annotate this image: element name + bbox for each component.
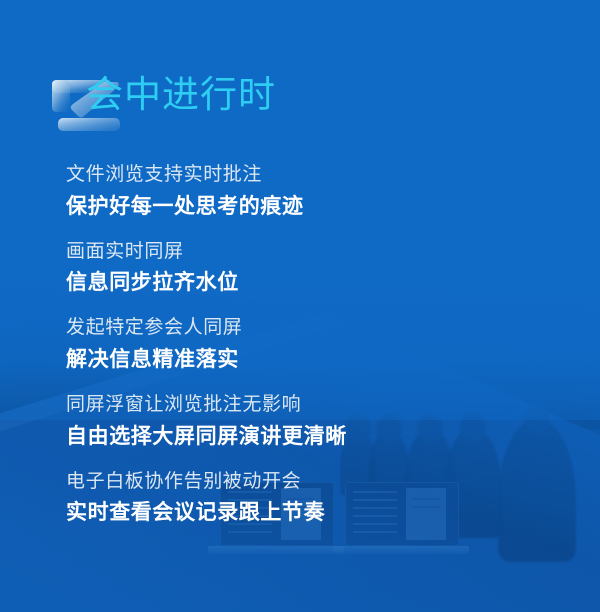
section-title: 会中进行时 xyxy=(86,76,276,113)
feature-lead: 发起特定参会人同屏 xyxy=(66,313,576,344)
feature-lead: 同屏浮窗让浏览批注无影响 xyxy=(66,390,576,421)
feature-list: 文件浏览支持实时批注 保护好每一处思考的痕迹 画面实时同屏 信息同步拉齐水位 发… xyxy=(66,160,576,529)
feature-headline: 实时查看会议记录跟上节奏 xyxy=(66,497,576,529)
feature-lead: 电子白板协作告别被动开会 xyxy=(66,467,576,498)
feature-lead: 画面实时同屏 xyxy=(66,237,576,268)
feature-item: 画面实时同屏 信息同步拉齐水位 xyxy=(66,237,576,300)
feature-headline: 信息同步拉齐水位 xyxy=(66,267,576,299)
feature-headline: 保护好每一处思考的痕迹 xyxy=(66,191,576,223)
feature-item: 发起特定参会人同屏 解决信息精准落实 xyxy=(66,313,576,376)
feature-item: 同屏浮窗让浏览批注无影响 自由选择大屏同屏演讲更清晰 xyxy=(66,390,576,453)
feature-item: 电子白板协作告别被动开会 实时查看会议记录跟上节奏 xyxy=(66,467,576,530)
feature-item: 文件浏览支持实时批注 保护好每一处思考的痕迹 xyxy=(66,160,576,223)
feature-lead: 文件浏览支持实时批注 xyxy=(66,160,576,191)
feature-headline: 解决信息精准落实 xyxy=(66,344,576,376)
poster-content: 会中进行时 文件浏览支持实时批注 保护好每一处思考的痕迹 画面实时同屏 信息同步… xyxy=(0,0,600,612)
feature-headline: 自由选择大屏同屏演讲更清晰 xyxy=(66,421,576,453)
promo-poster: 会中进行时 文件浏览支持实时批注 保护好每一处思考的痕迹 画面实时同屏 信息同步… xyxy=(0,0,600,612)
